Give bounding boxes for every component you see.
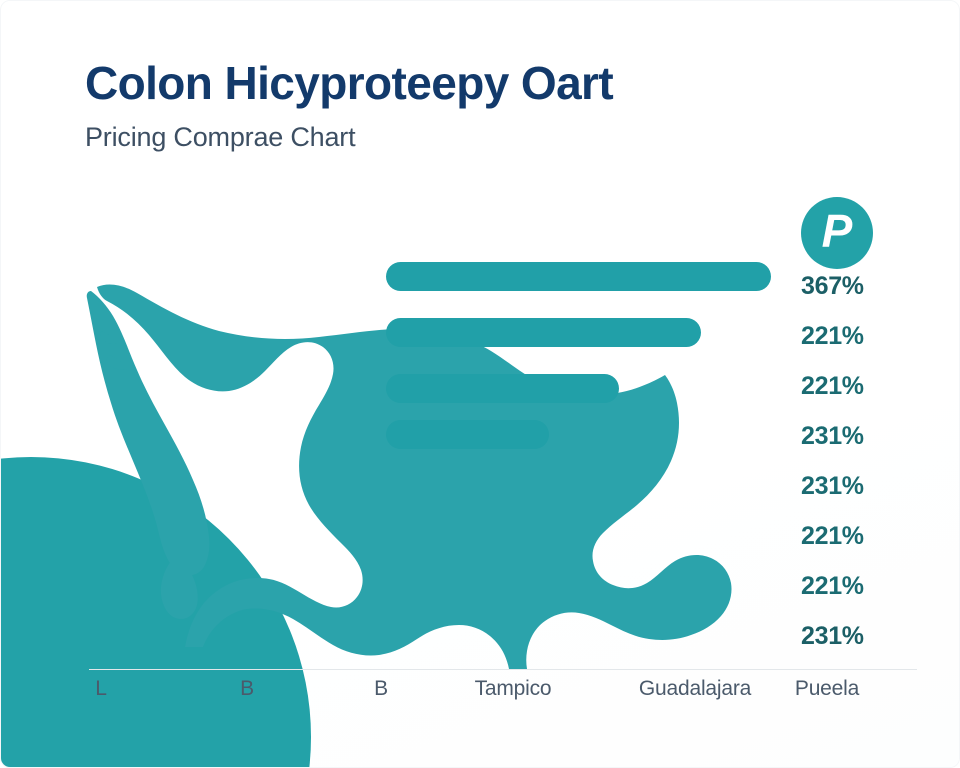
value-label: 231% xyxy=(801,623,951,673)
value-label: 231% xyxy=(801,473,951,523)
x-axis-tick-label: Guadalajara xyxy=(639,677,751,701)
bar-row[interactable] xyxy=(386,262,771,291)
x-axis-tick-label: L xyxy=(95,677,106,701)
p-badge-icon[interactable]: P xyxy=(801,197,873,269)
bar-row[interactable] xyxy=(386,374,619,403)
value-label: 221% xyxy=(801,523,951,573)
value-label: 221% xyxy=(801,323,951,373)
p-badge-letter: P xyxy=(822,208,853,254)
value-label: 221% xyxy=(801,373,951,423)
x-axis-labels: L B B Tampico Guadalajara Pueela xyxy=(89,677,917,711)
bar-row[interactable] xyxy=(386,318,701,347)
x-axis-tick-label: Pueela xyxy=(795,677,859,701)
x-axis-tick-label: B xyxy=(240,677,254,701)
value-labels-column: 367% 221% 221% 231% 231% 221% 221% 231% xyxy=(801,273,951,673)
bar-row[interactable] xyxy=(386,420,549,449)
chart-card: Colon Hicyproteepy Oart Pricing Comprae … xyxy=(0,0,960,768)
value-label: 221% xyxy=(801,573,951,623)
value-label: 231% xyxy=(801,423,951,473)
x-axis-tick-label: Tampico xyxy=(475,677,552,701)
value-label: 367% xyxy=(801,273,951,323)
x-axis-tick-label: B xyxy=(374,677,388,701)
x-axis-line xyxy=(89,669,917,670)
